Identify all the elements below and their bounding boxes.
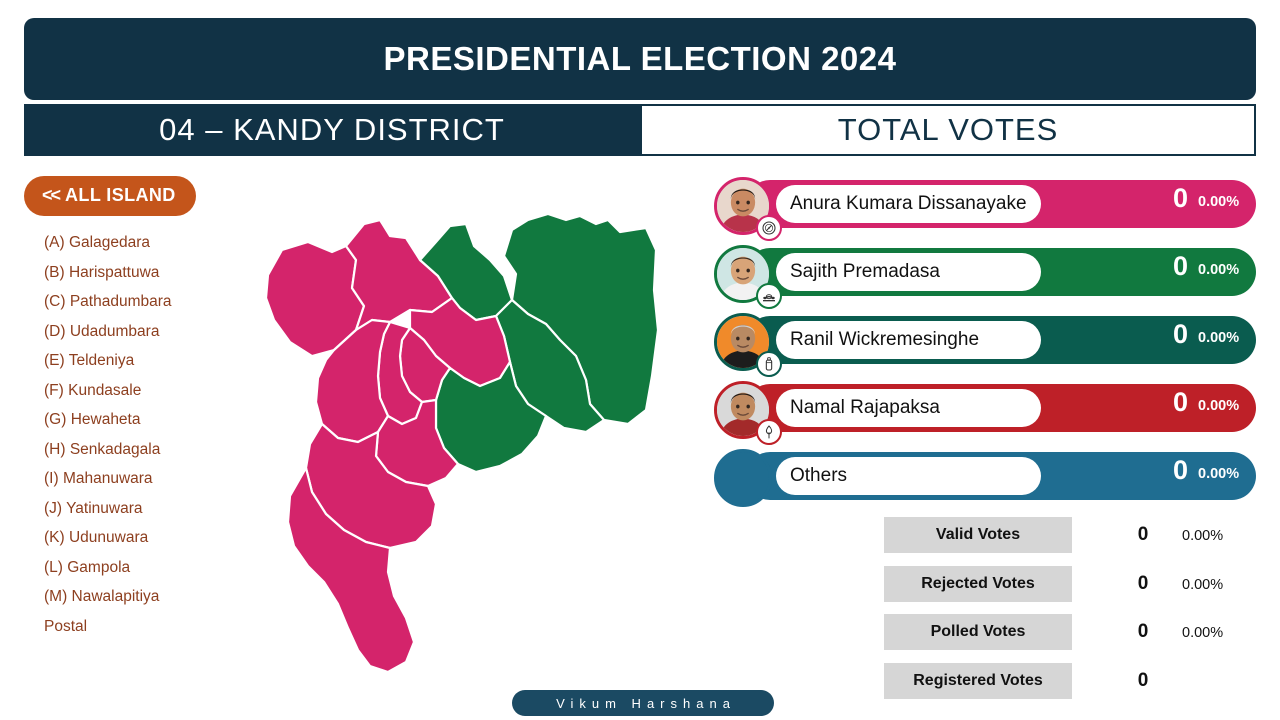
candidate-name-pill: Anura Kumara Dissanayake	[776, 185, 1041, 223]
candidate-vote-percent: 0.00%	[1198, 194, 1239, 210]
gas-cylinder-icon	[756, 351, 782, 377]
candidate-vote-count: 0	[1144, 319, 1188, 350]
candidate-vote-percent: 0.00%	[1198, 398, 1239, 414]
stat-label: Polled Votes	[884, 614, 1072, 650]
page-title: PRESIDENTIAL ELECTION 2024	[24, 18, 1256, 100]
stat-row: Valid Votes00.00%	[884, 517, 1260, 566]
division-letter: (K)	[44, 529, 69, 546]
candidate-name-pill: Others	[776, 457, 1041, 495]
stat-label: Valid Votes	[884, 517, 1072, 553]
stat-percent: 0.00%	[1182, 625, 1223, 641]
kandy-district-map[interactable]	[215, 180, 725, 680]
stat-value: 0	[1128, 670, 1158, 692]
division-name: Kundasale	[68, 382, 141, 399]
candidate-result-row[interactable]: Namal Rajapaksa00.00%	[714, 381, 1256, 435]
division-letter: (A)	[44, 234, 69, 251]
candidate-avatar	[714, 449, 772, 507]
division-letter: (E)	[44, 352, 69, 369]
division-letter: (I)	[44, 470, 63, 487]
stat-row: Registered Votes0	[884, 663, 1260, 712]
candidate-name-pill: Ranil Wickremesinghe	[776, 321, 1041, 359]
division-name: Gampola	[67, 559, 130, 576]
candidate-result-row[interactable]: Sajith Premadasa00.00%	[714, 245, 1256, 299]
candidate-vote-count: 0	[1144, 455, 1188, 486]
total-votes-tab[interactable]: TOTAL VOTES	[640, 104, 1256, 156]
bud-icon	[756, 419, 782, 445]
candidate-name-pill: Namal Rajapaksa	[776, 389, 1041, 427]
stat-percent: 0.00%	[1182, 528, 1223, 544]
candidate-result-row[interactable]: Anura Kumara Dissanayake00.00%	[714, 177, 1256, 231]
vote-summary-stats: Valid Votes00.00%Rejected Votes00.00%Pol…	[884, 517, 1260, 711]
district-tab[interactable]: 04 – KANDY DISTRICT	[24, 104, 640, 156]
division-letter: (D)	[44, 323, 70, 340]
division-name: Nawalapitiya	[72, 588, 160, 605]
division-letter: (F)	[44, 382, 68, 399]
stat-label: Registered Votes	[884, 663, 1072, 699]
division-letter: (M)	[44, 588, 72, 605]
candidate-vote-percent: 0.00%	[1198, 466, 1239, 482]
division-letter: (L)	[44, 559, 67, 576]
candidate-result-row[interactable]: Ranil Wickremesinghe00.00%	[714, 313, 1256, 367]
division-name: Mahanuwara	[63, 470, 153, 487]
candidate-vote-count: 0	[1144, 251, 1188, 282]
candidate-name-pill: Sajith Premadasa	[776, 253, 1041, 291]
stat-percent: 0.00%	[1182, 577, 1223, 593]
division-letter: (J)	[44, 500, 66, 517]
stat-row: Polled Votes00.00%	[884, 614, 1260, 663]
division-name: Senkadagala	[70, 441, 161, 458]
division-name: Yatinuwara	[66, 500, 142, 517]
watermark-credit: Vikum Harshana	[512, 690, 774, 716]
candidate-vote-count: 0	[1144, 183, 1188, 214]
all-island-button[interactable]: <<ALL ISLAND	[24, 176, 196, 216]
stat-row: Rejected Votes00.00%	[884, 566, 1260, 615]
candidate-vote-percent: 0.00%	[1198, 262, 1239, 278]
division-name: Galagedara	[69, 234, 150, 251]
compass-icon	[756, 215, 782, 241]
all-island-label: ALL ISLAND	[65, 185, 176, 205]
double-chevron-left-icon: <<	[42, 185, 59, 205]
election-dashboard: PRESIDENTIAL ELECTION 2024 04 – KANDY DI…	[0, 0, 1280, 720]
division-name: Udunuwara	[69, 529, 148, 546]
stat-label: Rejected Votes	[884, 566, 1072, 602]
division-letter: (H)	[44, 441, 70, 458]
candidate-result-row[interactable]: Others00.00%	[714, 449, 1256, 503]
division-name: Pathadumbara	[70, 293, 172, 310]
candidate-results-list: Anura Kumara Dissanayake00.00%Sajith Pre…	[714, 177, 1256, 517]
stat-value: 0	[1128, 621, 1158, 643]
division-name: Hewaheta	[71, 411, 141, 428]
stat-value: 0	[1128, 573, 1158, 595]
division-letter: (G)	[44, 411, 71, 428]
division-name: Harispattuwa	[69, 264, 159, 281]
stat-value: 0	[1128, 524, 1158, 546]
candidate-vote-count: 0	[1144, 387, 1188, 418]
division-name: Udadumbara	[70, 323, 160, 340]
division-letter: (C)	[44, 293, 70, 310]
sub-header-bar: 04 – KANDY DISTRICT TOTAL VOTES	[24, 104, 1256, 156]
division-name: Postal	[44, 618, 87, 635]
division-letter: (B)	[44, 264, 69, 281]
division-name: Teldeniya	[69, 352, 135, 369]
candidate-vote-percent: 0.00%	[1198, 330, 1239, 346]
telephone-icon	[756, 283, 782, 309]
